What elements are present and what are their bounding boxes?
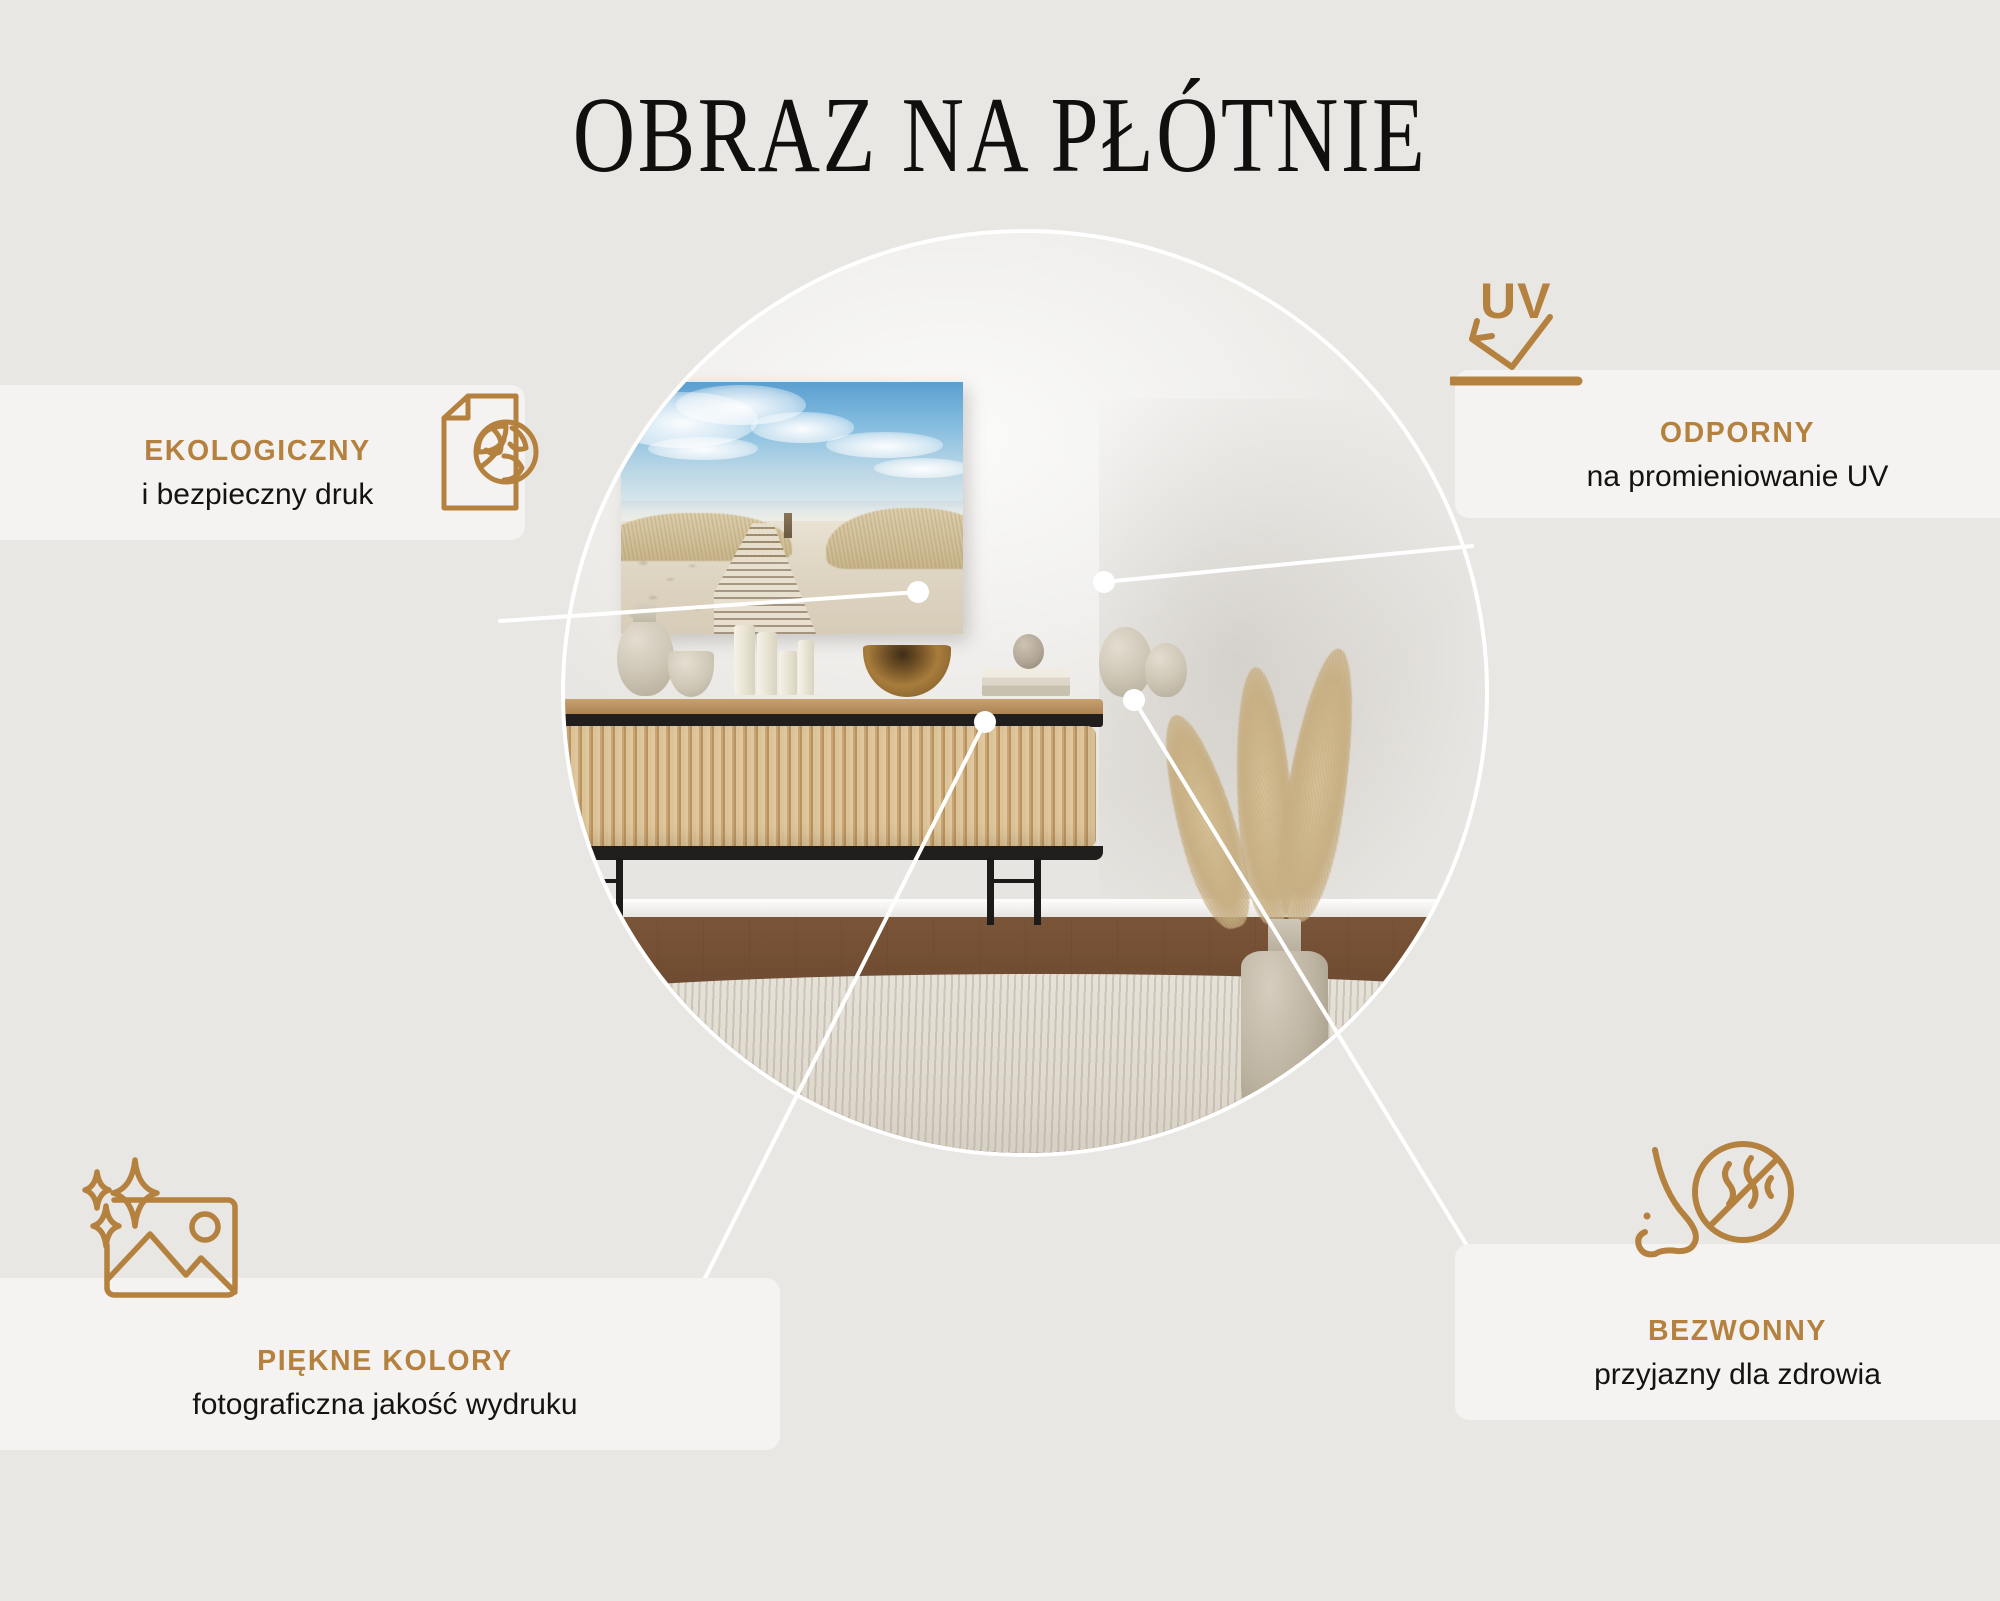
feature-card-colors[interactable]: PIĘKNE KOLORY fotograficzna jakość wydru… bbox=[0, 1278, 780, 1450]
uv-resistance-icon bbox=[1450, 281, 1610, 391]
round-ceramic-vase bbox=[617, 618, 674, 695]
pillar-candle bbox=[757, 632, 776, 695]
vase-neck bbox=[633, 604, 656, 622]
round-ceramic-vase bbox=[1099, 627, 1152, 697]
round-ceramic-vase bbox=[1145, 643, 1187, 696]
stacked-books bbox=[982, 668, 1070, 696]
feature-title-uv: ODPORNY bbox=[1489, 416, 1986, 450]
sideboard bbox=[565, 699, 1103, 873]
page-title: OBRAZ NA PŁÓTNIE bbox=[200, 78, 1800, 195]
eco-document-globe-leaf-icon bbox=[420, 390, 555, 515]
feature-subtitle-uv: na promieniowanie UV bbox=[1489, 458, 1986, 496]
nose-no-smell-icon bbox=[1625, 1132, 1805, 1280]
canvas-artwork bbox=[621, 382, 963, 634]
sideboard-leg bbox=[1034, 858, 1041, 924]
woven-basket bbox=[574, 1015, 666, 1098]
cloud bbox=[648, 437, 758, 460]
sideboard-leg bbox=[616, 858, 623, 924]
pillar-candle bbox=[734, 625, 755, 695]
room-scene-circle bbox=[565, 233, 1485, 1153]
feature-title-odor: BEZWONNY bbox=[1489, 1314, 1986, 1348]
pillar-candle bbox=[798, 640, 815, 695]
pillar-candle bbox=[779, 651, 796, 695]
picture-sparkle-icon bbox=[68, 1150, 253, 1300]
cloud bbox=[874, 458, 963, 478]
sideboard-leg bbox=[987, 858, 994, 924]
wooden-post bbox=[784, 513, 792, 538]
room-interior bbox=[565, 233, 1485, 1153]
feature-card-uv[interactable]: ODPORNY na promieniowanie UV bbox=[1455, 370, 2000, 518]
infographic-page: OBRAZ NA PŁÓTNIE bbox=[0, 0, 2000, 1601]
sideboard-fluted-body bbox=[565, 726, 1096, 848]
sideboard-leg bbox=[570, 858, 577, 924]
sideboard-base-trim bbox=[565, 846, 1103, 860]
tall-floor-vase bbox=[1241, 951, 1327, 1111]
cloud bbox=[826, 432, 942, 457]
area-rug bbox=[565, 974, 1485, 1153]
sideboard-top-trim bbox=[565, 714, 1103, 727]
sideboard-leg-bar bbox=[570, 879, 623, 882]
feature-subtitle-odor: przyjazny dla zdrowia bbox=[1489, 1356, 1986, 1394]
sideboard-leg-bar bbox=[987, 879, 1040, 882]
feature-subtitle-colors: fotograficzna jakość wydruku bbox=[24, 1386, 746, 1424]
feature-title-colors: PIĘKNE KOLORY bbox=[24, 1344, 746, 1378]
